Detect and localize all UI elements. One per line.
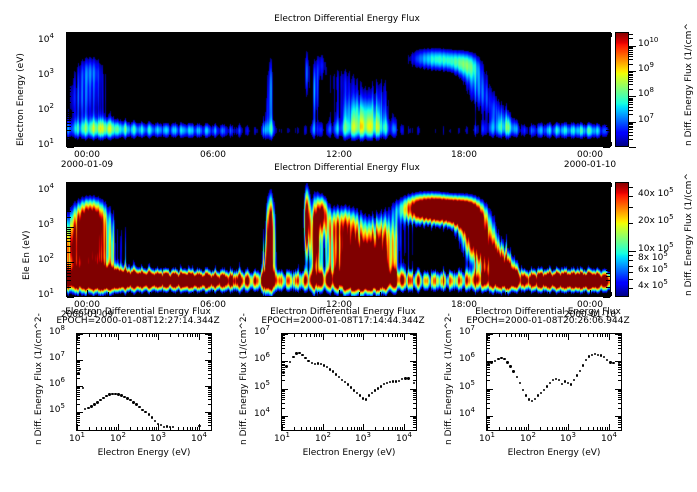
spectrum-ylabel: n Diff. Energy Flux (1/(cm^2- [444, 445, 576, 455]
data-point [540, 392, 542, 394]
middle-panel-title: Electron Differential Energy Flux [187, 163, 507, 173]
tick-mark [282, 395, 285, 396]
tick-mark [487, 353, 490, 354]
xaxis-tick-label: 00:00 [573, 150, 607, 160]
data-point [567, 382, 569, 384]
tick-mark [562, 334, 563, 337]
tick-mark [361, 427, 362, 430]
tick-mark [116, 427, 117, 430]
tick-mark [548, 142, 549, 146]
tick-mark [359, 142, 360, 146]
tick-mark [603, 147, 610, 148]
tick-mark [611, 33, 612, 37]
tick-mark [205, 412, 211, 413]
tick-mark [77, 396, 80, 397]
tick-mark [211, 427, 212, 430]
tick-mark [208, 399, 211, 400]
tick-mark [511, 427, 512, 430]
xaxis-tick-label: 103 [554, 434, 582, 444]
tick-mark [629, 129, 633, 130]
tick-mark [178, 427, 179, 430]
tick-mark [629, 100, 633, 101]
tick-mark [629, 74, 633, 75]
tick-mark [77, 366, 80, 367]
tick-mark [606, 273, 610, 274]
tick-mark [400, 334, 401, 337]
tick-mark [629, 107, 633, 108]
tick-mark [618, 342, 621, 343]
tick-mark [606, 206, 610, 207]
tick-mark [67, 233, 71, 234]
yaxis-tick-label: 106 [49, 379, 65, 389]
tick-mark [282, 393, 285, 394]
tick-mark [597, 334, 598, 337]
tick-mark [77, 362, 80, 363]
data-point [326, 366, 328, 368]
tick-mark [410, 334, 416, 335]
tick-mark [606, 46, 610, 47]
tick-mark [282, 391, 285, 392]
tick-mark [208, 337, 211, 338]
tick-mark [301, 427, 302, 430]
tick-mark [606, 91, 610, 92]
tick-mark [67, 130, 71, 131]
tick-mark [606, 270, 610, 271]
tick-mark [339, 33, 340, 39]
tick-mark [359, 427, 360, 430]
tick-mark [519, 334, 520, 337]
data-point [138, 406, 140, 408]
tick-mark [187, 427, 188, 430]
tick-mark [67, 42, 74, 43]
tick-mark [282, 340, 285, 341]
tick-mark [282, 365, 285, 366]
tick-mark [342, 334, 343, 337]
tick-mark [67, 196, 71, 197]
tick-mark [607, 427, 608, 430]
tick-mark [556, 427, 557, 430]
tick-mark [255, 142, 256, 146]
tick-mark [562, 427, 563, 430]
tick-mark [597, 427, 598, 430]
tick-mark [67, 276, 71, 277]
tick-mark [413, 427, 416, 428]
tick-mark [487, 403, 490, 404]
tick-mark [629, 71, 636, 72]
tick-mark [606, 118, 610, 119]
tick-mark [618, 424, 621, 425]
data-point [371, 392, 373, 394]
tick-mark [506, 183, 507, 187]
tick-mark [67, 266, 71, 267]
tick-mark [547, 334, 548, 337]
tick-mark [208, 420, 211, 421]
tick-mark [150, 33, 151, 37]
tick-mark [316, 427, 317, 430]
tick-mark [413, 372, 416, 373]
tick-mark [526, 334, 527, 337]
tick-mark [77, 425, 80, 426]
tick-mark [67, 53, 71, 54]
tick-mark [410, 416, 416, 417]
tick-mark [208, 390, 211, 391]
tick-mark [606, 67, 610, 68]
tick-mark [629, 72, 633, 73]
tick-mark [590, 33, 591, 39]
tick-mark [606, 130, 610, 131]
tick-mark [67, 227, 74, 228]
tick-mark [150, 292, 151, 296]
data-point [365, 398, 367, 400]
tick-mark [101, 334, 102, 337]
tick-mark [606, 126, 610, 127]
tick-mark [208, 378, 211, 379]
tick-mark [190, 427, 191, 430]
tick-mark [111, 427, 112, 430]
tick-mark [77, 364, 80, 365]
tick-mark [547, 427, 548, 430]
spectrum-plot-1 [76, 333, 212, 431]
tick-mark [618, 372, 621, 373]
tick-mark [282, 399, 285, 400]
tick-mark [392, 334, 393, 337]
tick-mark [569, 292, 570, 296]
xaxis-tick-label: 06:00 [196, 150, 230, 160]
tick-mark [171, 142, 172, 146]
data-point [570, 383, 572, 385]
tick-mark [618, 418, 621, 419]
tick-mark [67, 217, 71, 218]
tick-mark [401, 183, 402, 187]
tick-mark [357, 334, 358, 337]
tick-mark [527, 33, 528, 37]
tick-mark [629, 56, 633, 57]
data-point [338, 376, 340, 378]
tick-mark [487, 337, 490, 338]
tick-mark [629, 279, 633, 280]
tick-mark [392, 427, 393, 430]
tick-mark [318, 292, 319, 296]
tick-mark [67, 241, 71, 242]
tick-mark [276, 33, 277, 37]
tick-mark [294, 334, 295, 337]
tick-mark [422, 33, 423, 37]
tick-mark [606, 280, 610, 281]
tick-mark [410, 389, 416, 390]
tick-mark [67, 88, 71, 89]
tick-mark [208, 392, 211, 393]
tick-mark [487, 417, 490, 418]
tick-mark [67, 147, 74, 148]
tick-mark [629, 132, 633, 133]
tick-mark [413, 397, 416, 398]
tick-mark [199, 424, 200, 430]
tick-mark [108, 33, 109, 37]
tick-mark [255, 292, 256, 296]
tick-mark [487, 427, 490, 428]
tick-mark [606, 233, 610, 234]
tick-mark [282, 361, 288, 362]
tick-mark [600, 334, 601, 337]
tick-mark [401, 142, 402, 146]
tick-mark [487, 335, 490, 336]
tick-mark [629, 114, 633, 115]
data-point [603, 356, 605, 358]
tick-mark [629, 135, 633, 136]
data-point [552, 379, 554, 381]
tick-mark [208, 404, 211, 405]
tick-mark [67, 44, 71, 45]
tick-mark [606, 83, 610, 84]
tick-mark [208, 344, 211, 345]
data-point [102, 397, 104, 399]
tick-mark [588, 427, 589, 430]
tick-mark [506, 334, 507, 337]
tick-mark [77, 414, 80, 415]
yaxis-tick-label: 101 [38, 290, 54, 300]
tick-mark [413, 365, 416, 366]
tick-mark [234, 33, 235, 37]
tick-mark [77, 387, 80, 388]
tick-mark [487, 367, 490, 368]
tick-mark [335, 427, 336, 430]
tick-mark [149, 334, 150, 337]
tick-mark [347, 334, 348, 337]
tick-mark [629, 89, 633, 90]
tick-mark [282, 342, 285, 343]
tick-mark [208, 335, 211, 336]
tick-mark [282, 364, 285, 365]
tick-mark [487, 338, 490, 339]
tick-mark [154, 427, 155, 430]
tick-mark [443, 33, 444, 37]
spectrum-ylabel: n Diff. Energy Flux (1/(cm^2- [239, 445, 371, 455]
tick-mark [116, 334, 117, 337]
tick-mark [603, 42, 610, 43]
tick-mark [314, 427, 315, 430]
tick-mark [629, 50, 633, 51]
tick-mark [154, 334, 155, 337]
tick-mark [282, 389, 288, 390]
tick-mark [606, 44, 610, 45]
tick-mark [606, 182, 610, 183]
tick-mark [629, 139, 633, 140]
top-panel-title: Electron Differential Energy Flux [187, 14, 507, 24]
tick-mark [67, 116, 71, 117]
tick-mark [618, 335, 621, 336]
yaxis-tick-label: 105 [459, 382, 475, 392]
data-point [359, 394, 361, 396]
tick-mark [323, 424, 324, 430]
tick-mark [314, 334, 315, 337]
data-point [395, 380, 397, 382]
tick-mark [363, 334, 364, 340]
tick-mark [629, 207, 633, 208]
data-point [99, 399, 101, 401]
tick-mark [443, 183, 444, 187]
data-point [362, 397, 364, 399]
xaxis-tick-label: 12:00 [322, 150, 356, 160]
data-point [285, 365, 287, 367]
tick-mark [413, 395, 416, 396]
tick-mark [621, 427, 622, 430]
data-point [380, 385, 382, 387]
tick-mark [77, 361, 80, 362]
tick-mark [607, 334, 608, 337]
tick-mark [383, 334, 384, 337]
tick-mark [77, 340, 80, 341]
data-point [531, 400, 533, 402]
tick-mark [67, 206, 71, 207]
spectrum-ylabel: n Diff. Energy Flux (1/(cm^2- [34, 445, 166, 455]
colorbar-tick-label: 6x 105 [638, 265, 668, 275]
tick-mark [606, 116, 610, 117]
tick-mark [208, 340, 211, 341]
tick-mark [77, 390, 80, 391]
tick-mark [380, 183, 381, 187]
tick-mark [487, 340, 490, 341]
tick-mark [208, 422, 211, 423]
tick-mark [282, 353, 285, 354]
tick-mark [205, 386, 211, 387]
tick-mark [629, 260, 633, 261]
tick-mark [383, 427, 384, 430]
tick-mark [213, 140, 214, 146]
tick-mark [629, 288, 633, 289]
tick-mark [318, 33, 319, 37]
tick-mark [606, 235, 610, 236]
tick-mark [380, 33, 381, 37]
tick-mark [413, 362, 416, 363]
tick-mark [208, 416, 211, 417]
tick-mark [521, 334, 522, 337]
tick-mark [629, 102, 633, 103]
tick-mark [413, 399, 416, 400]
data-point [497, 358, 499, 360]
tick-mark [618, 365, 621, 366]
tick-mark [67, 32, 71, 33]
tick-mark [413, 369, 416, 370]
xaxis-tick-label: 103 [144, 434, 172, 444]
tick-mark [170, 334, 171, 337]
tick-mark [487, 362, 490, 363]
tick-mark [618, 408, 621, 409]
tick-mark [146, 427, 147, 430]
tick-mark [67, 79, 71, 80]
tick-mark [519, 427, 520, 430]
data-point [494, 360, 496, 362]
tick-mark [142, 334, 143, 337]
tick-mark [443, 292, 444, 296]
middle-spectrogram-frame [66, 182, 611, 297]
data-point [356, 392, 358, 394]
yaxis-tick-label: 107 [254, 327, 270, 337]
tick-mark [67, 91, 71, 92]
tick-mark [67, 120, 71, 121]
xaxis-date-label: 2000-01-10 [563, 160, 617, 170]
tick-mark [603, 77, 610, 78]
tick-mark [199, 334, 200, 340]
tick-mark [282, 372, 285, 373]
tick-mark [208, 387, 211, 388]
tick-mark [552, 334, 553, 337]
tick-mark [590, 290, 591, 296]
data-point [546, 385, 548, 387]
middle-colorbar-label: n Diff. Energy Flux (1/(cm^ [684, 296, 697, 306]
tick-mark [282, 397, 285, 398]
yaxis-tick-label: 104 [254, 409, 270, 419]
tick-mark [413, 417, 416, 418]
tick-mark [77, 352, 80, 353]
data-point [105, 395, 107, 397]
tick-mark [77, 388, 80, 389]
tick-mark [521, 427, 522, 430]
tick-mark [590, 140, 591, 146]
tick-mark [282, 348, 285, 349]
tick-mark [67, 83, 71, 84]
tick-mark [464, 33, 465, 39]
tick-mark [67, 231, 71, 232]
tick-mark [77, 360, 83, 361]
tick-mark [401, 292, 402, 296]
tick-mark [606, 276, 610, 277]
tick-mark [114, 334, 115, 337]
colorbar-tick-label: 4x 105 [638, 281, 668, 291]
tick-mark [178, 334, 179, 337]
tick-mark [506, 427, 507, 430]
tick-mark [67, 270, 71, 271]
tick-mark [569, 33, 570, 37]
tick-mark [101, 427, 102, 430]
tick-mark [629, 64, 633, 65]
tick-mark [67, 182, 71, 183]
tick-mark [618, 362, 621, 363]
tick-mark [282, 338, 285, 339]
tick-mark [540, 427, 541, 430]
tick-mark [487, 424, 490, 425]
xaxis-tick-label: 00:00 [70, 150, 104, 160]
tick-mark [158, 424, 159, 430]
tick-mark [606, 264, 610, 265]
data-point [163, 426, 165, 428]
tick-mark [67, 297, 74, 298]
tick-mark [629, 34, 633, 35]
data-point [374, 389, 376, 391]
xaxis-tick-label: 103 [349, 434, 377, 444]
tick-mark [190, 334, 191, 337]
yaxis-tick-label: 104 [38, 35, 54, 45]
tick-mark [485, 183, 486, 187]
tick-mark [629, 98, 633, 99]
tick-mark [618, 380, 621, 381]
yaxis-tick-label: 103 [38, 220, 54, 230]
spectrum-ylabel-text: n Diff. Energy Flux (1/(cm^2- [239, 313, 249, 445]
tick-mark [205, 360, 211, 361]
tick-mark [297, 142, 298, 146]
tick-mark [187, 334, 188, 337]
tick-mark [629, 187, 633, 188]
tick-mark [548, 183, 549, 187]
tick-mark [359, 183, 360, 187]
tick-mark [580, 427, 581, 430]
tick-mark [282, 422, 285, 423]
tick-mark [67, 96, 71, 97]
data-point [407, 377, 409, 379]
tick-mark [347, 427, 348, 430]
tick-mark [354, 427, 355, 430]
tick-mark [195, 427, 196, 430]
tick-mark [606, 287, 610, 288]
